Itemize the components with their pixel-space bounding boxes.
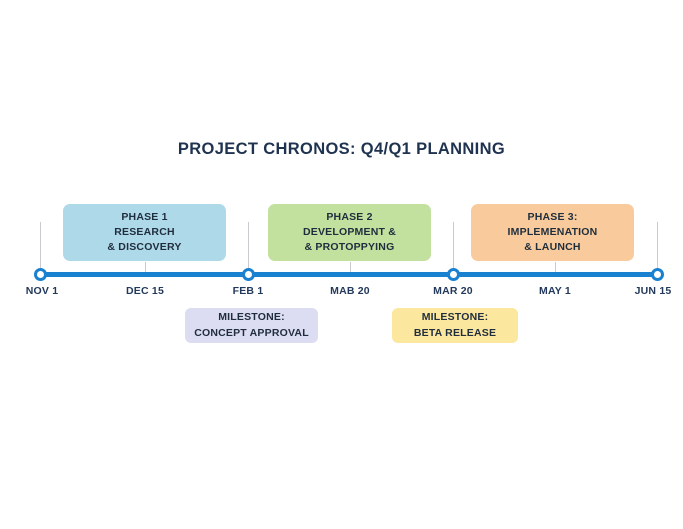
date-label-nov-1: NOV 1 bbox=[26, 285, 59, 297]
phase-1-line-1: PHASE 1 bbox=[121, 210, 167, 225]
milestone-2-line-2: BETA RELEASE bbox=[414, 326, 496, 341]
phase-3-line-3: & LAUNCH bbox=[524, 240, 580, 255]
page-title: PROJECT CHRONOS: Q4/Q1 PLANNING bbox=[0, 140, 683, 159]
axis-marker-nov-1[interactable] bbox=[34, 268, 47, 281]
phase-2-line-2: DEVELOPMENT & bbox=[303, 225, 396, 240]
tick-line-mab-20 bbox=[350, 262, 351, 272]
tick-line-nov-1 bbox=[40, 222, 41, 272]
date-label-mar-20: MAR 20 bbox=[433, 285, 473, 297]
milestone-1-line-1: MILESTONE: bbox=[218, 310, 285, 325]
phase-1-line-3: & DISCOVERY bbox=[107, 240, 181, 255]
phase-3-line-2: IMPLEMENATION bbox=[508, 225, 598, 240]
phase-box-2: PHASE 2 DEVELOPMENT & & PROTOPPYING bbox=[268, 204, 431, 261]
tick-line-may-1 bbox=[555, 262, 556, 272]
phase-2-line-1: PHASE 2 bbox=[326, 210, 372, 225]
date-label-may-1: MAY 1 bbox=[539, 285, 571, 297]
tick-line-jun-15 bbox=[657, 222, 658, 272]
milestone-1-line-2: CONCEPT APPROVAL bbox=[194, 326, 309, 341]
axis-marker-mar-20[interactable] bbox=[447, 268, 460, 281]
date-label-jun-15: JUN 15 bbox=[635, 285, 672, 297]
tick-line-dec-15 bbox=[145, 262, 146, 272]
date-label-mab-20: MAB 20 bbox=[330, 285, 370, 297]
milestone-box-concept-approval: MILESTONE: CONCEPT APPROVAL bbox=[185, 308, 318, 343]
milestone-2-line-1: MILESTONE: bbox=[422, 310, 489, 325]
timeline-axis bbox=[40, 272, 658, 277]
phase-box-1: PHASE 1 RESEARCH & DISCOVERY bbox=[63, 204, 226, 261]
phase-1-line-2: RESEARCH bbox=[114, 225, 175, 240]
phase-2-line-3: & PROTOPPYING bbox=[305, 240, 395, 255]
axis-marker-jun-15[interactable] bbox=[651, 268, 664, 281]
tick-line-feb-1 bbox=[248, 222, 249, 272]
phase-3-line-1: PHASE 3: bbox=[527, 210, 577, 225]
phase-box-3: PHASE 3: IMPLEMENATION & LAUNCH bbox=[471, 204, 634, 261]
milestone-box-beta-release: MILESTONE: BETA RELEASE bbox=[392, 308, 518, 343]
timeline-diagram: PROJECT CHRONOS: Q4/Q1 PLANNING PHASE 1 … bbox=[0, 0, 683, 529]
date-label-feb-1: FEB 1 bbox=[233, 285, 264, 297]
date-label-dec-15: DEC 15 bbox=[126, 285, 164, 297]
tick-line-mar-20 bbox=[453, 222, 454, 272]
axis-marker-feb-1[interactable] bbox=[242, 268, 255, 281]
